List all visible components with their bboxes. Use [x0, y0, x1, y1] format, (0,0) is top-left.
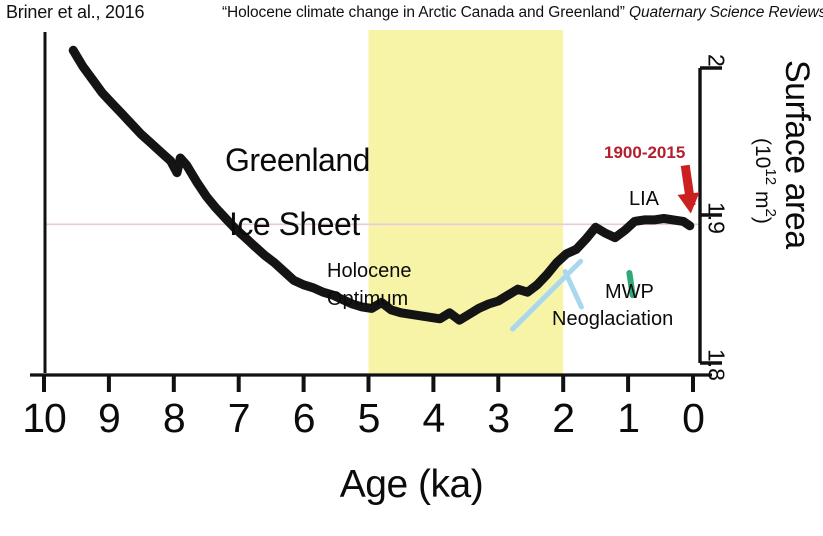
- holocene-optimum-label-line1: Holocene: [327, 260, 412, 283]
- x-axis-title: Age (ka): [0, 463, 823, 507]
- neoglaciation-label: Neoglaciation: [552, 308, 673, 331]
- greenland-label-line2: Ice Sheet: [229, 206, 360, 243]
- x-tick-label-10: 10: [22, 395, 66, 442]
- x-tick-label-3: 3: [487, 395, 509, 442]
- x-tick-label-9: 9: [98, 395, 120, 442]
- x-tick-label-5: 5: [358, 395, 380, 442]
- greenland-label-line1: Greenland: [225, 142, 370, 179]
- modern-arrow: [678, 165, 700, 213]
- x-tick-label-2: 2: [552, 395, 574, 442]
- neoglaciation-tick: [565, 272, 581, 307]
- x-tick-label-8: 8: [163, 395, 185, 442]
- y-axis-units: (1012 m2): [752, 138, 778, 224]
- x-tick-label-7: 7: [228, 395, 250, 442]
- x-tick-label-6: 6: [293, 395, 315, 442]
- figure-root: Briner et al., 2016 “Holocene climate ch…: [0, 0, 823, 536]
- y-tick-label-1-8: 1.8: [703, 349, 730, 381]
- x-tick-label-0: 0: [682, 395, 704, 442]
- x-tick-label-4: 4: [422, 395, 444, 442]
- x-tick-label-1: 1: [617, 395, 639, 442]
- lia-label: LIA: [629, 188, 659, 211]
- y-tick-label-1-9: 1.9: [703, 202, 730, 234]
- y-axis-title: Surface area: [780, 60, 814, 249]
- holocene-optimum-band: [369, 30, 564, 375]
- x-axis-ticks: [44, 375, 693, 392]
- holocene-optimum-label-line2: Optimum: [327, 288, 408, 311]
- modern-period-label: 1900-2015: [604, 143, 685, 163]
- mwp-label: MWP: [605, 281, 654, 304]
- y-tick-label-2: 2: [703, 54, 730, 67]
